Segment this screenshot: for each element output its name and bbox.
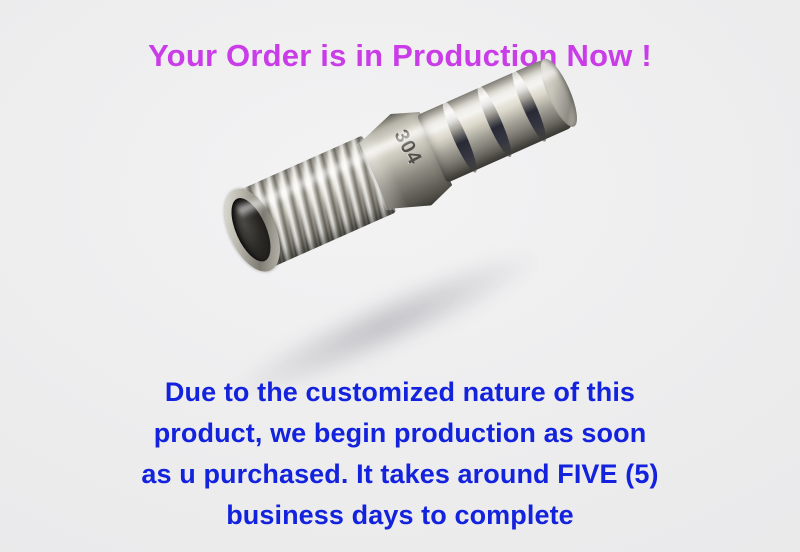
- notice-line: as u purchased. It takes around FIVE (5): [0, 454, 800, 495]
- notice-line: business days to complete: [0, 495, 800, 536]
- page-title: Your Order is in Production Now !: [0, 38, 800, 74]
- product-photo: 304: [150, 120, 670, 380]
- production-notice: Due to the customized nature of this pro…: [0, 372, 800, 536]
- notice-line: product, we begin production as soon: [0, 413, 800, 454]
- notice-line: Due to the customized nature of this: [0, 372, 800, 413]
- promotional-poster: Your Order is in Production Now ! 304 Du…: [0, 0, 800, 552]
